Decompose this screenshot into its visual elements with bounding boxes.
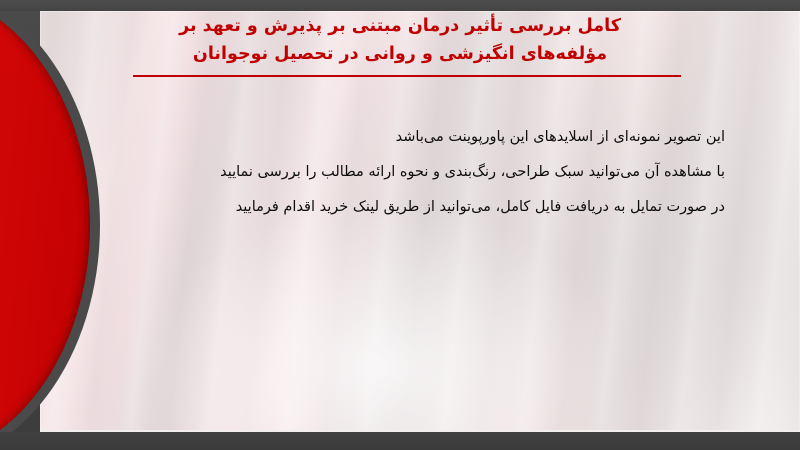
body-line-2: با مشاهده آن می‌توانید سبک طراحی، رنگ‌بن… — [115, 155, 725, 190]
slide-body-text: این تصویر نمونه‌ای از اسلایدهای این پاور… — [115, 120, 725, 225]
body-line-3: در صورت تمایل به دریافت فایل کامل، می‌تو… — [115, 190, 725, 225]
title-line-1: کامل بررسی تأثیر درمان مبتنی بر پذیرش و … — [120, 12, 680, 40]
title-line-2: مؤلفه‌های انگیزشی و روانی در تحصیل نوجوا… — [120, 40, 680, 68]
body-line-1: این تصویر نمونه‌ای از اسلایدهای این پاور… — [115, 120, 725, 155]
presentation-slide: کامل بررسی تأثیر درمان مبتنی بر پذیرش و … — [0, 0, 800, 450]
slide-title: کامل بررسی تأثیر درمان مبتنی بر پذیرش و … — [120, 12, 680, 68]
title-underline-rule — [133, 75, 681, 77]
top-dark-band — [0, 0, 800, 11]
bottom-dark-band — [0, 432, 800, 450]
